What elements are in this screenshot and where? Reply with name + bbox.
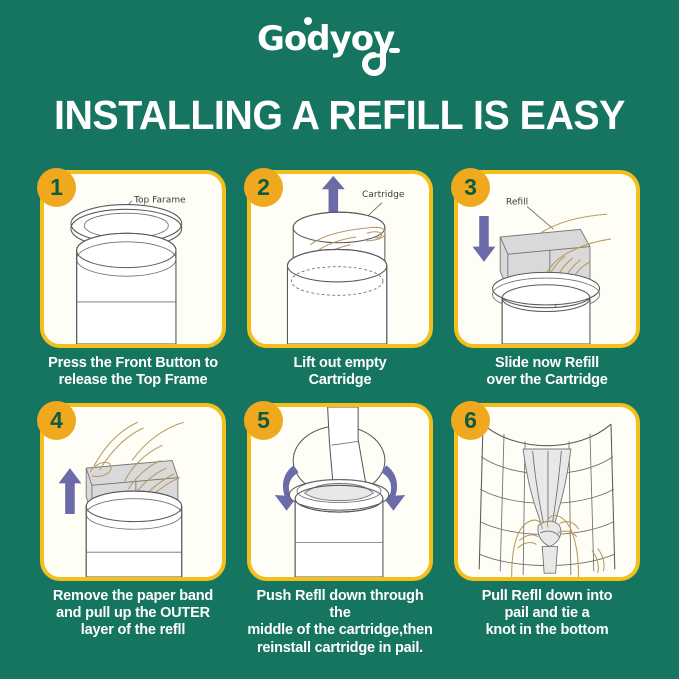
step-3-number-badge: 3 <box>451 168 490 207</box>
step-5-number-badge: 5 <box>244 401 283 440</box>
step-3: Refill Cartridge <box>454 170 640 389</box>
step-5-caption-line-0: Push Refll down through the <box>247 588 433 622</box>
step-4-caption-line-1: and pull up the OUTER <box>40 605 226 622</box>
step-2: Cartridge 2 <box>247 170 433 389</box>
step-5-caption-line-2: reinstall cartridge in pail. <box>247 640 433 657</box>
brand-logo: Godyoy <box>0 14 679 81</box>
step-3-caption-line-1: over the Cartridge <box>454 372 640 389</box>
step-1: Top Farame 1 Press the Front Button to <box>40 170 226 389</box>
step-4-caption-line-2: layer of the refll <box>40 622 226 639</box>
step-6-caption-line-1: pail and tie a <box>454 605 640 622</box>
step-4: 4 Remove the paper band and pull up the … <box>40 403 226 656</box>
step-2-number-badge: 2 <box>244 168 283 207</box>
step-5-caption: Push Refll down through the middle of th… <box>247 588 433 656</box>
step-5-caption-line-1: middle of the cartridge,then <box>247 622 433 639</box>
step-4-number-badge: 4 <box>37 401 76 440</box>
step-1-caption: Press the Front Button to release the To… <box>40 355 226 389</box>
godyoy-wordmark-icon: Godyoy <box>255 14 425 76</box>
steps-grid: Top Farame 1 Press the Front Button to <box>40 170 640 657</box>
step-2-caption-line-0: Lift out empty <box>247 355 433 372</box>
step-2-caption: Lift out empty Cartridge <box>247 355 433 389</box>
step-6: 6 Pull Refll down into pail and tie a kn… <box>454 403 640 656</box>
step-6-caption: Pull Refll down into pail and tie a knot… <box>454 588 640 639</box>
step-4-caption-line-0: Remove the paper band <box>40 588 226 605</box>
step-3-label-0: Refill <box>506 198 528 208</box>
step-1-caption-line-0: Press the Front Button to <box>40 355 226 372</box>
step-1-label-0: Top Farame <box>133 196 186 206</box>
step-3-caption: Slide now Refill over the Cartridge <box>454 355 640 389</box>
step-1-number-badge: 1 <box>37 168 76 207</box>
step-2-caption-line-1: Cartridge <box>247 372 433 389</box>
up-arrow-icon <box>59 468 82 514</box>
step-2-label-0: Cartridge <box>362 190 405 200</box>
step-6-caption-line-0: Pull Refll down into <box>454 588 640 605</box>
step-6-number-badge: 6 <box>451 401 490 440</box>
step-3-caption-line-0: Slide now Refill <box>454 355 640 372</box>
infographic-page: Godyoy INSTALLING A REFILL IS EASY Top F… <box>0 0 679 679</box>
down-arrow-icon <box>473 216 496 262</box>
step-4-caption: Remove the paper band and pull up the OU… <box>40 588 226 639</box>
step-6-caption-line-2: knot in the bottom <box>454 622 640 639</box>
step-1-caption-line-1: release the Top Frame <box>40 372 226 389</box>
step-5: 5 Push Refll down through the middle of … <box>247 403 433 656</box>
page-title: INSTALLING A REFILL IS EASY <box>14 92 666 139</box>
